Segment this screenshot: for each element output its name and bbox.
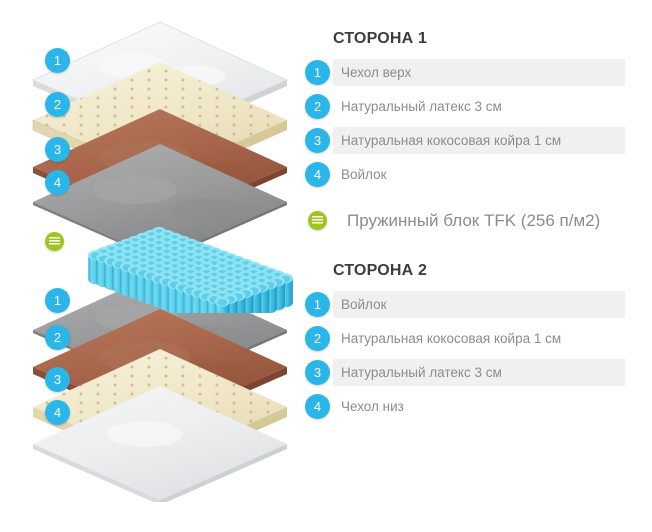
legend-row-spring-block[interactable]: Пружинный блок TFK (256 п/м2) [303, 207, 652, 234]
legend-label-side2-4: Чехол низ [341, 393, 404, 420]
legend-row-side2-2[interactable]: 2 Натуральная кокосовая койра 1 см [303, 325, 652, 352]
layer-badge-bottom-4: 4 [45, 400, 70, 425]
legend-label-spring-block: Пружинный блок TFK (256 п/м2) [347, 207, 600, 234]
legend-row-side2-3[interactable]: 3 Натуральный латекс 3 см [303, 359, 652, 386]
legend-badge-side2-2: 2 [305, 326, 330, 351]
section-title-side-2: СТОРОНА 2 [333, 262, 427, 280]
legend-row-side1-1[interactable]: 1 Чехол верх [303, 59, 652, 86]
spring-block-icon [312, 216, 323, 225]
legend-badge-side2-4: 4 [305, 394, 330, 419]
legend-label-side1-3: Натуральная кокосовая койра 1 см [341, 127, 561, 154]
legend-row-side1-2[interactable]: 2 Натуральный латекс 3 см [303, 93, 652, 120]
legend-label-side1-1: Чехол верх [341, 59, 411, 86]
legend-row-side2-1[interactable]: 1 Войлок [303, 291, 652, 318]
legend-row-side1-3[interactable]: 3 Натуральная кокосовая койра 1 см [303, 127, 652, 154]
layer-badge-top-4: 4 [45, 170, 70, 195]
legend-row-side2-4[interactable]: 4 Чехол низ [303, 393, 652, 420]
mattress-composition-diagram: 1 2 [0, 0, 652, 500]
mattress-layers-illustration: 1 2 [0, 0, 310, 500]
legend-badge-side1-2: 2 [305, 94, 330, 119]
layer-cover-bottom: 4 [20, 382, 270, 532]
spring-block-badge-icon [45, 232, 64, 251]
legend-label-side2-3: Натуральный латекс 3 см [341, 359, 502, 386]
legend-badge-side2-1: 1 [305, 292, 330, 317]
section-title-side-1: СТОРОНА 1 [333, 30, 427, 48]
layer-spring-block [18, 218, 288, 298]
legend-badge-side1-3: 3 [305, 128, 330, 153]
legend-badge-spring-block [308, 211, 327, 230]
legend-label-side2-1: Войлок [341, 291, 387, 318]
legend-badge-side1-1: 1 [305, 60, 330, 85]
legend-label-side1-4: Войлок [341, 161, 387, 188]
legend-badge-side1-4: 4 [305, 162, 330, 187]
layers-legend: СТОРОНА 1 1 Чехол верх 2 Натуральный лат… [303, 0, 652, 500]
legend-badge-side2-3: 3 [305, 360, 330, 385]
spring-block-icon [49, 237, 60, 246]
legend-label-side2-2: Натуральная кокосовая койра 1 см [341, 325, 561, 352]
legend-label-side1-2: Натуральный латекс 3 см [341, 93, 502, 120]
legend-row-side1-4[interactable]: 4 Войлок [303, 161, 652, 188]
